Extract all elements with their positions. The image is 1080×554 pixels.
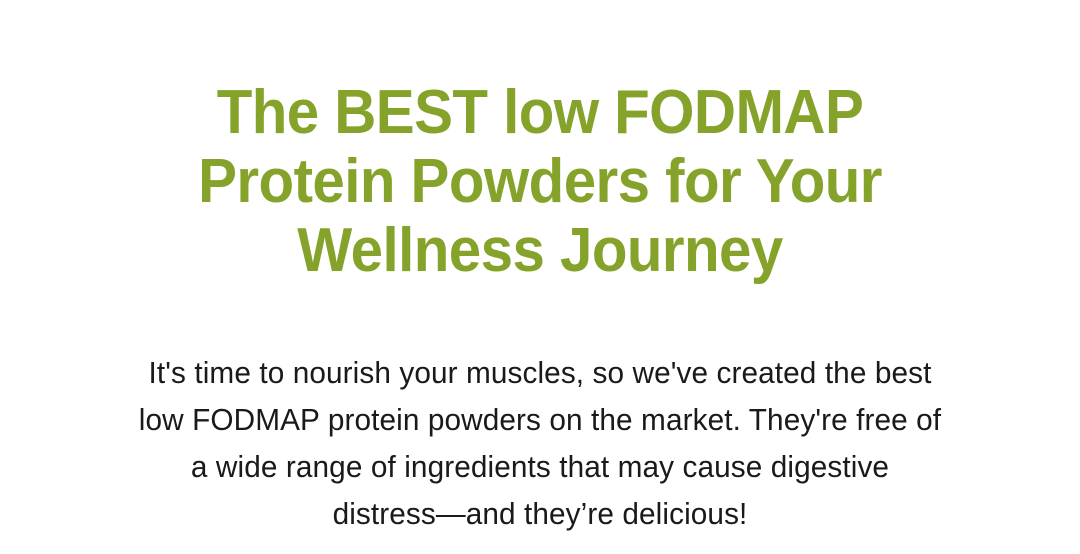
intro-paragraph-line-1: It's time to nourish your muscles, so we…: [22, 349, 1059, 396]
article-header-banner: The BEST low FODMAP Protein Powders for …: [0, 0, 1080, 554]
intro-paragraph-line-3: a wide range of ingredients that may cau…: [22, 443, 1059, 490]
page-title: The BEST low FODMAP Protein Powders for …: [0, 78, 1080, 285]
page-title-line-3: Wellness Journey: [32, 216, 1047, 285]
page-title-line-1: The BEST low FODMAP: [32, 78, 1047, 147]
intro-paragraph-line-2: low FODMAP protein powders on the market…: [22, 396, 1059, 443]
intro-paragraph: It's time to nourish your muscles, so we…: [0, 349, 1080, 537]
page-title-line-2: Protein Powders for Your: [32, 147, 1047, 216]
intro-paragraph-line-4: distress—and they’re delicious!: [22, 490, 1059, 537]
